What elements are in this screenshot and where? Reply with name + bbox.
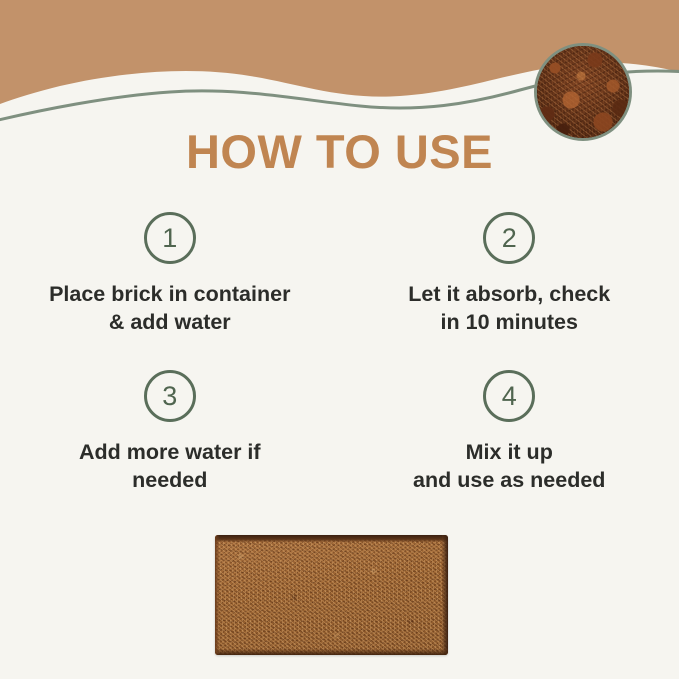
step-1-number-badge: 1 [144,212,196,264]
step-2-label: Let it absorb, check in 10 minutes [408,281,610,336]
step-2-number-badge: 2 [483,212,535,264]
brick-face-texture [215,535,448,655]
step-3: 3 Add more water if needed [0,370,340,494]
coir-closeup-circle-image [534,43,632,141]
step-4: 4 Mix it up and use as needed [340,370,679,494]
step-4-number-badge: 4 [483,370,535,422]
how-to-use-infographic: HOW TO USE 1 Place brick in container & … [0,0,679,679]
step-1-label: Place brick in container & add water [49,281,290,336]
coir-texture [534,43,632,141]
brick-left-edge [215,535,219,655]
steps-grid: 1 Place brick in container & add water 2… [0,212,679,494]
step-1: 1 Place brick in container & add water [0,212,340,336]
brick-bottom-edge [215,649,448,655]
brick-right-edge [442,535,448,655]
step-4-label: Mix it up and use as needed [413,439,605,494]
step-2: 2 Let it absorb, check in 10 minutes [340,212,679,336]
step-3-number-badge: 3 [144,370,196,422]
step-3-label: Add more water if needed [79,439,261,494]
coco-coir-brick-image [215,535,448,655]
page-title: HOW TO USE [0,128,679,175]
brick-top-edge [215,535,448,542]
